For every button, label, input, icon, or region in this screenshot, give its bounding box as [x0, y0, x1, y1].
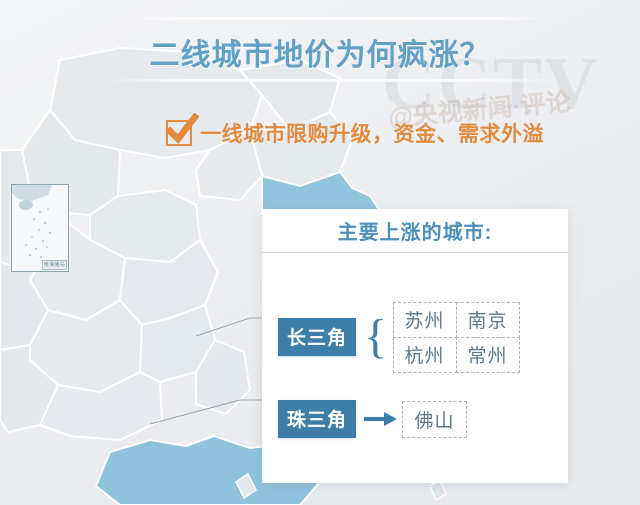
city-cell[interactable]: 杭州 [393, 337, 457, 373]
region-badge-prd[interactable]: 珠三角 [278, 400, 356, 438]
card-header: 主要上涨的城市: [262, 209, 568, 253]
subtitle-row: 一线城市限购升级，资金、需求外溢 [166, 118, 544, 148]
subtitle-text: 一线城市限购升级，资金、需求外溢 [200, 118, 544, 148]
sea-inset-caption: 南海诸岛 [42, 260, 67, 270]
cities-card: 主要上涨的城市: 长三角 { 苏州 南京 杭州 常州 珠三角 [262, 209, 568, 483]
arrow-right-icon [364, 411, 398, 427]
page-title: 二线城市地价为何疯涨？ [0, 30, 640, 74]
top-divider [128, 17, 548, 20]
region-row-yrd: 长三角 { 苏州 南京 杭州 常州 [278, 302, 519, 372]
city-cell[interactable]: 南京 [456, 302, 520, 338]
card-title: 主要上涨的城市: [338, 216, 493, 245]
checkbox-icon [166, 120, 192, 146]
city-grid-yrd: 苏州 南京 杭州 常州 [393, 302, 519, 372]
title-divider [96, 79, 566, 82]
infographic-root: 南海诸岛 CCTV @央视新闻·评论 二线城市地价为何疯涨？ 一线城市限购升级，… [0, 0, 640, 505]
brace-icon: { [364, 320, 387, 354]
city-cell[interactable]: 常州 [456, 337, 520, 373]
south-china-sea-inset: 南海诸岛 [11, 184, 69, 272]
city-cell[interactable]: 苏州 [393, 302, 457, 338]
region-row-prd: 珠三角 佛山 [278, 400, 467, 438]
card-body: 长三角 { 苏州 南京 杭州 常州 珠三角 佛山 [262, 253, 568, 484]
region-badge-yrd[interactable]: 长三角 [278, 318, 356, 356]
checkmark-glyph [165, 113, 199, 147]
sea-inset-map [12, 185, 69, 272]
city-cell[interactable]: 佛山 [402, 401, 467, 438]
